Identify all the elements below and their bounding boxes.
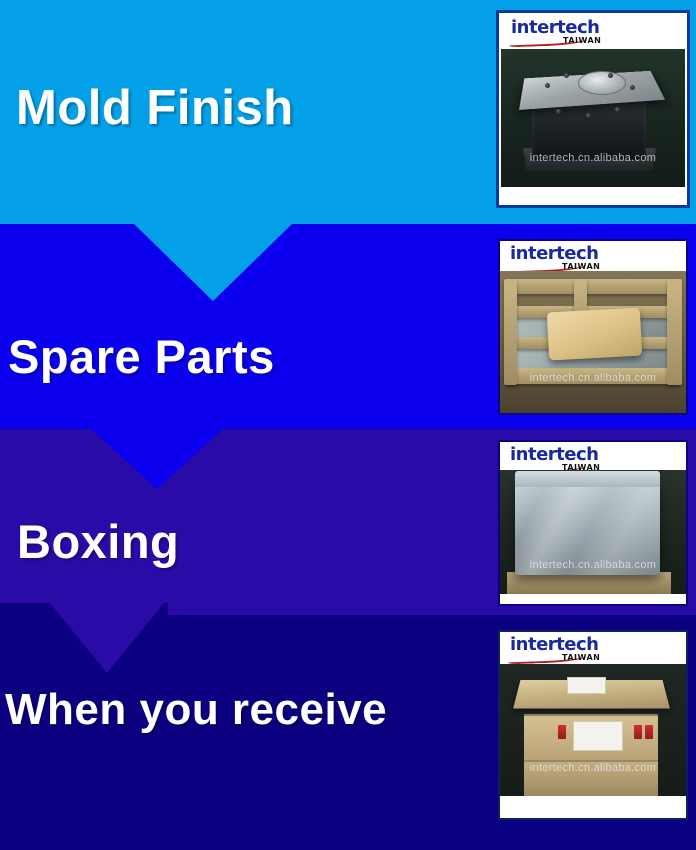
chevron-down-icon-3: [50, 603, 164, 673]
stage-photo-spare-parts: intertech.cn.alibaba.com intertech TAIWA…: [498, 239, 688, 415]
crate-plank: [507, 368, 678, 383]
stage-caption-boxing: Boxing: [17, 518, 179, 565]
photo-bottom-strip: [500, 796, 686, 818]
logo-subtitle: TAIWAN: [562, 653, 600, 662]
mold-bolt: [630, 85, 635, 90]
photo-inner-4: intertech.cn.alibaba.com intertech TAIWA…: [500, 632, 686, 818]
crate-lower-section: [524, 758, 658, 795]
stage-photo-boxing: intertech.cn.alibaba.com intertech TAIWA…: [498, 440, 688, 606]
logo-subtitle: TAIWAN: [563, 36, 601, 45]
crate-rail: [667, 279, 682, 386]
plastic-wrapped-mold: [515, 478, 660, 575]
logo-subtitle: TAIWAN: [562, 262, 600, 271]
intertech-logo-1: intertech TAIWAN: [501, 15, 685, 49]
stage-caption-mold-finish: Mold Finish: [16, 84, 294, 133]
chevron-down-icon-2: [91, 429, 223, 489]
mold-bolt: [564, 73, 569, 78]
crate-label-front: [573, 721, 623, 751]
intertech-logo-2: intertech TAIWAN: [500, 241, 686, 271]
process-infographic-slide: Mold Finish Spare Parts Boxing When you …: [0, 0, 696, 850]
crate-rail: [504, 279, 517, 386]
wooden-pallet: [507, 572, 671, 595]
crate-red-mark: [558, 725, 566, 739]
logo-subtitle: TAIWAN: [562, 463, 600, 470]
wrapped-spare-part: [547, 307, 642, 360]
photo-inner-1: intertech.cn.alibaba.com intertech TAIWA…: [501, 15, 685, 203]
intertech-logo-4: intertech TAIWAN: [500, 632, 686, 664]
photo-bottom-strip: [501, 187, 685, 203]
mold-bolt: [608, 73, 613, 78]
plastic-wrap-top: [515, 471, 660, 487]
stage-caption-when-you-receive: When you receive: [5, 688, 387, 732]
photo-bottom-strip: [500, 594, 686, 604]
stage-photo-mold-finish: intertech.cn.alibaba.com intertech TAIWA…: [496, 10, 690, 208]
crate-red-mark: [645, 725, 653, 739]
crate-plank: [507, 279, 678, 294]
intertech-logo-3: intertech TAIWAN: [500, 442, 686, 470]
crate-red-mark: [634, 725, 642, 739]
mold-bolt: [586, 113, 591, 118]
photo-inner-3: intertech.cn.alibaba.com intertech TAIWA…: [500, 442, 686, 604]
mold-bolt: [545, 83, 550, 88]
stage-photo-when-you-receive: intertech.cn.alibaba.com intertech TAIWA…: [498, 630, 688, 820]
crate-label-top: [567, 677, 606, 694]
chevron-down-icon-1: [134, 224, 292, 301]
photo-inner-2: intertech.cn.alibaba.com intertech TAIWA…: [500, 241, 686, 413]
stage-caption-spare-parts: Spare Parts: [8, 333, 275, 380]
